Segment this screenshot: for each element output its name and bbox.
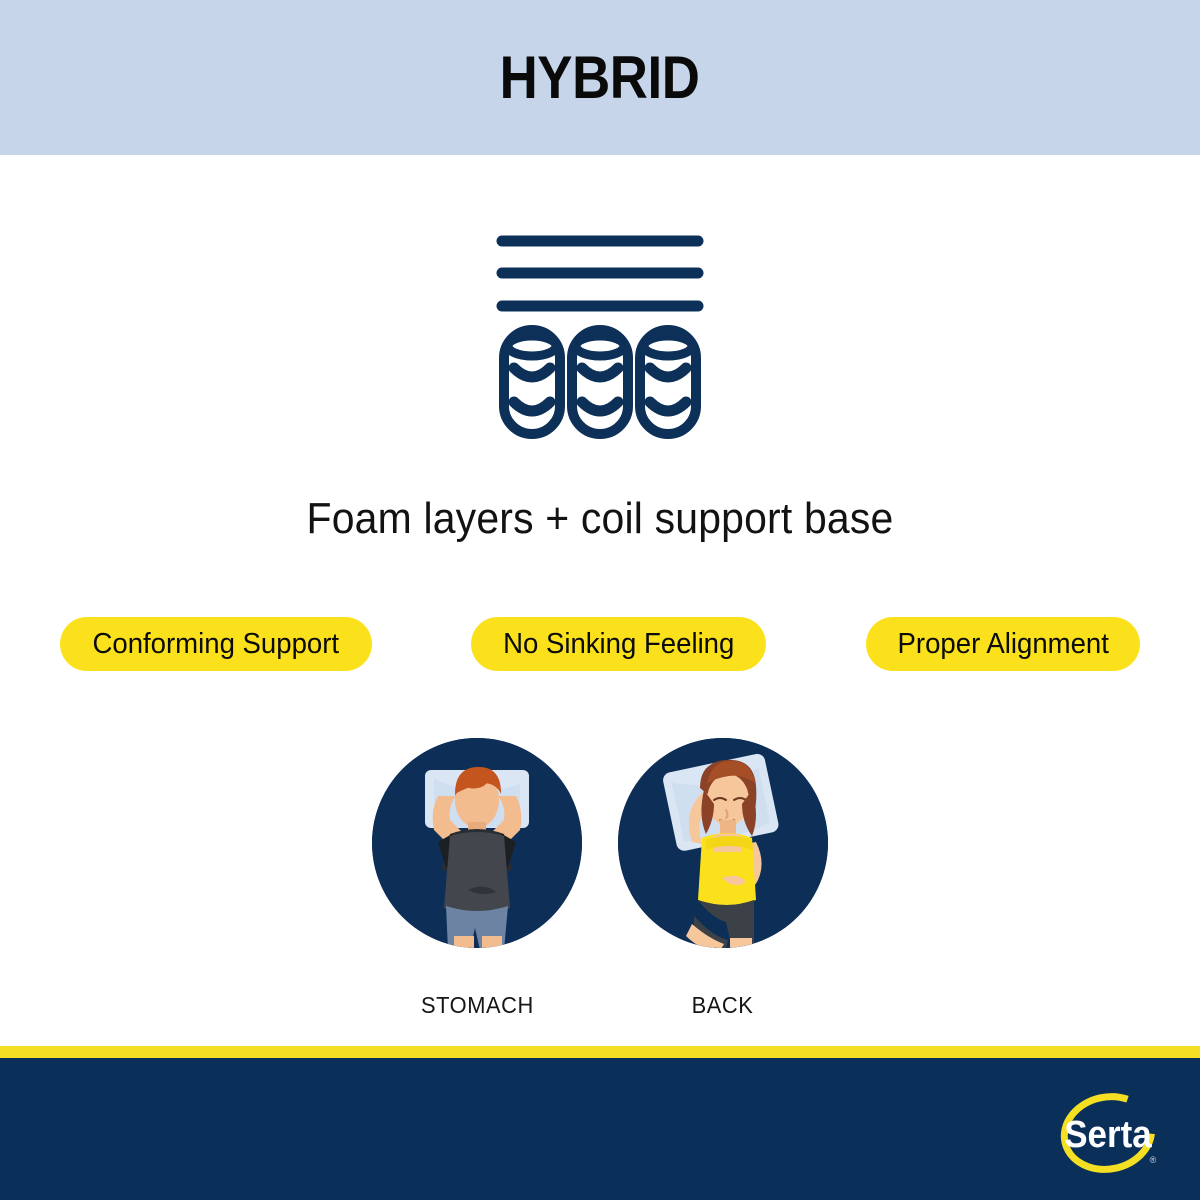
sleep-position-back: BACK <box>618 738 828 1017</box>
benefit-pill-label: No Sinking Feeling <box>503 630 734 659</box>
footer-accent-stripe <box>0 1046 1200 1058</box>
headline-text: Foam layers + coil support base <box>42 495 1158 543</box>
right-leg <box>482 936 502 948</box>
back-sleeper-circle <box>618 738 828 948</box>
benefit-pill-conforming-support: Conforming Support <box>60 617 372 671</box>
benefit-pill-proper-alignment: Proper Alignment <box>866 617 1140 671</box>
infographic-page: HYBRID <box>0 0 1200 1200</box>
support-coil-3 <box>640 330 696 434</box>
benefit-pill-no-sinking-feeling: No Sinking Feeling <box>471 617 766 671</box>
serta-wordmark: Serta <box>1064 1113 1152 1156</box>
header-band: HYBRID <box>0 0 1200 155</box>
sleep-position-label: STOMACH <box>421 994 534 1017</box>
benefit-pill-row: Conforming Support No Sinking Feeling Pr… <box>60 617 1140 671</box>
registered-trademark-mark: ® <box>1150 1155 1157 1165</box>
benefit-pill-label: Proper Alignment <box>897 630 1108 659</box>
straight-leg <box>730 938 752 948</box>
support-coil-1 <box>504 330 560 434</box>
stomach-sleeper-circle <box>372 738 582 948</box>
tank-top <box>698 833 756 905</box>
hybrid-mattress-coil-icon <box>490 222 710 442</box>
footer-band <box>0 1058 1200 1200</box>
sleep-position-label: BACK <box>692 994 754 1017</box>
back-sleeper-illustration <box>618 738 828 948</box>
sleep-position-row: STOMACH <box>0 738 1200 1017</box>
support-coil-2 <box>572 330 628 434</box>
tshirt <box>438 829 516 914</box>
neck <box>720 820 736 834</box>
sleep-position-stomach: STOMACH <box>372 738 582 1017</box>
benefit-pill-label: Conforming Support <box>92 630 339 659</box>
left-leg <box>454 936 474 948</box>
hybrid-icon-container <box>0 222 1200 442</box>
serta-logo[interactable]: Serta ® <box>1050 1088 1166 1178</box>
stomach-sleeper-illustration <box>372 738 582 948</box>
page-title: HYBRID <box>500 48 700 108</box>
